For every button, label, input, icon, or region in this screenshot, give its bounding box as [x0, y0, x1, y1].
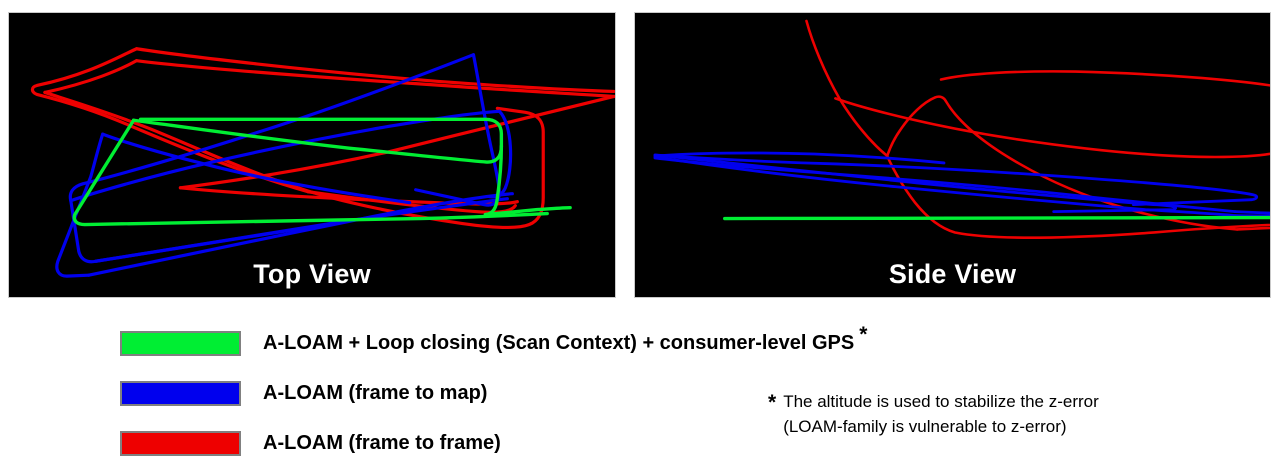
top-view-plot	[9, 13, 615, 297]
legend-label-blue: A-LOAM (frame to map)	[263, 382, 487, 405]
legend-item-green: A-LOAM + Loop closing (Scan Context) + c…	[120, 318, 980, 368]
legend-label-green: A-LOAM + Loop closing (Scan Context) + c…	[263, 332, 867, 355]
footnote-text: The altitude is used to stabilize the z-…	[783, 390, 1099, 439]
side-view-green-trajectory	[725, 217, 1270, 219]
side-view-blue-trajectory	[655, 153, 1270, 216]
side-view-plot	[635, 13, 1270, 297]
legend-swatch-green	[120, 331, 241, 356]
trajectory-comparison-figure: Top View	[0, 0, 1271, 465]
side-view-panel: Side View	[634, 12, 1271, 298]
footnote-line-2: (LOAM-family is vulnerable to z-error)	[783, 415, 1099, 440]
footnote-asterisk-icon: *	[768, 392, 776, 413]
legend-label-green-text: A-LOAM + Loop closing (Scan Context) + c…	[263, 332, 854, 354]
legend-label-red-text: A-LOAM (frame to frame)	[263, 432, 501, 454]
legend-swatch-red	[120, 431, 241, 456]
footnote-line-1: The altitude is used to stabilize the z-…	[783, 390, 1099, 415]
top-view-panel: Top View	[8, 12, 616, 298]
side-view-red-trajectory	[806, 21, 1270, 238]
legend-footnote-marker-icon: *	[859, 323, 867, 346]
legend-label-blue-text: A-LOAM (frame to map)	[263, 382, 487, 404]
legend-swatch-blue	[120, 381, 241, 406]
top-view-blue-trajectory	[57, 55, 512, 276]
legend-label-red: A-LOAM (frame to frame)	[263, 432, 501, 455]
footnote: * The altitude is used to stabilize the …	[768, 390, 1099, 439]
